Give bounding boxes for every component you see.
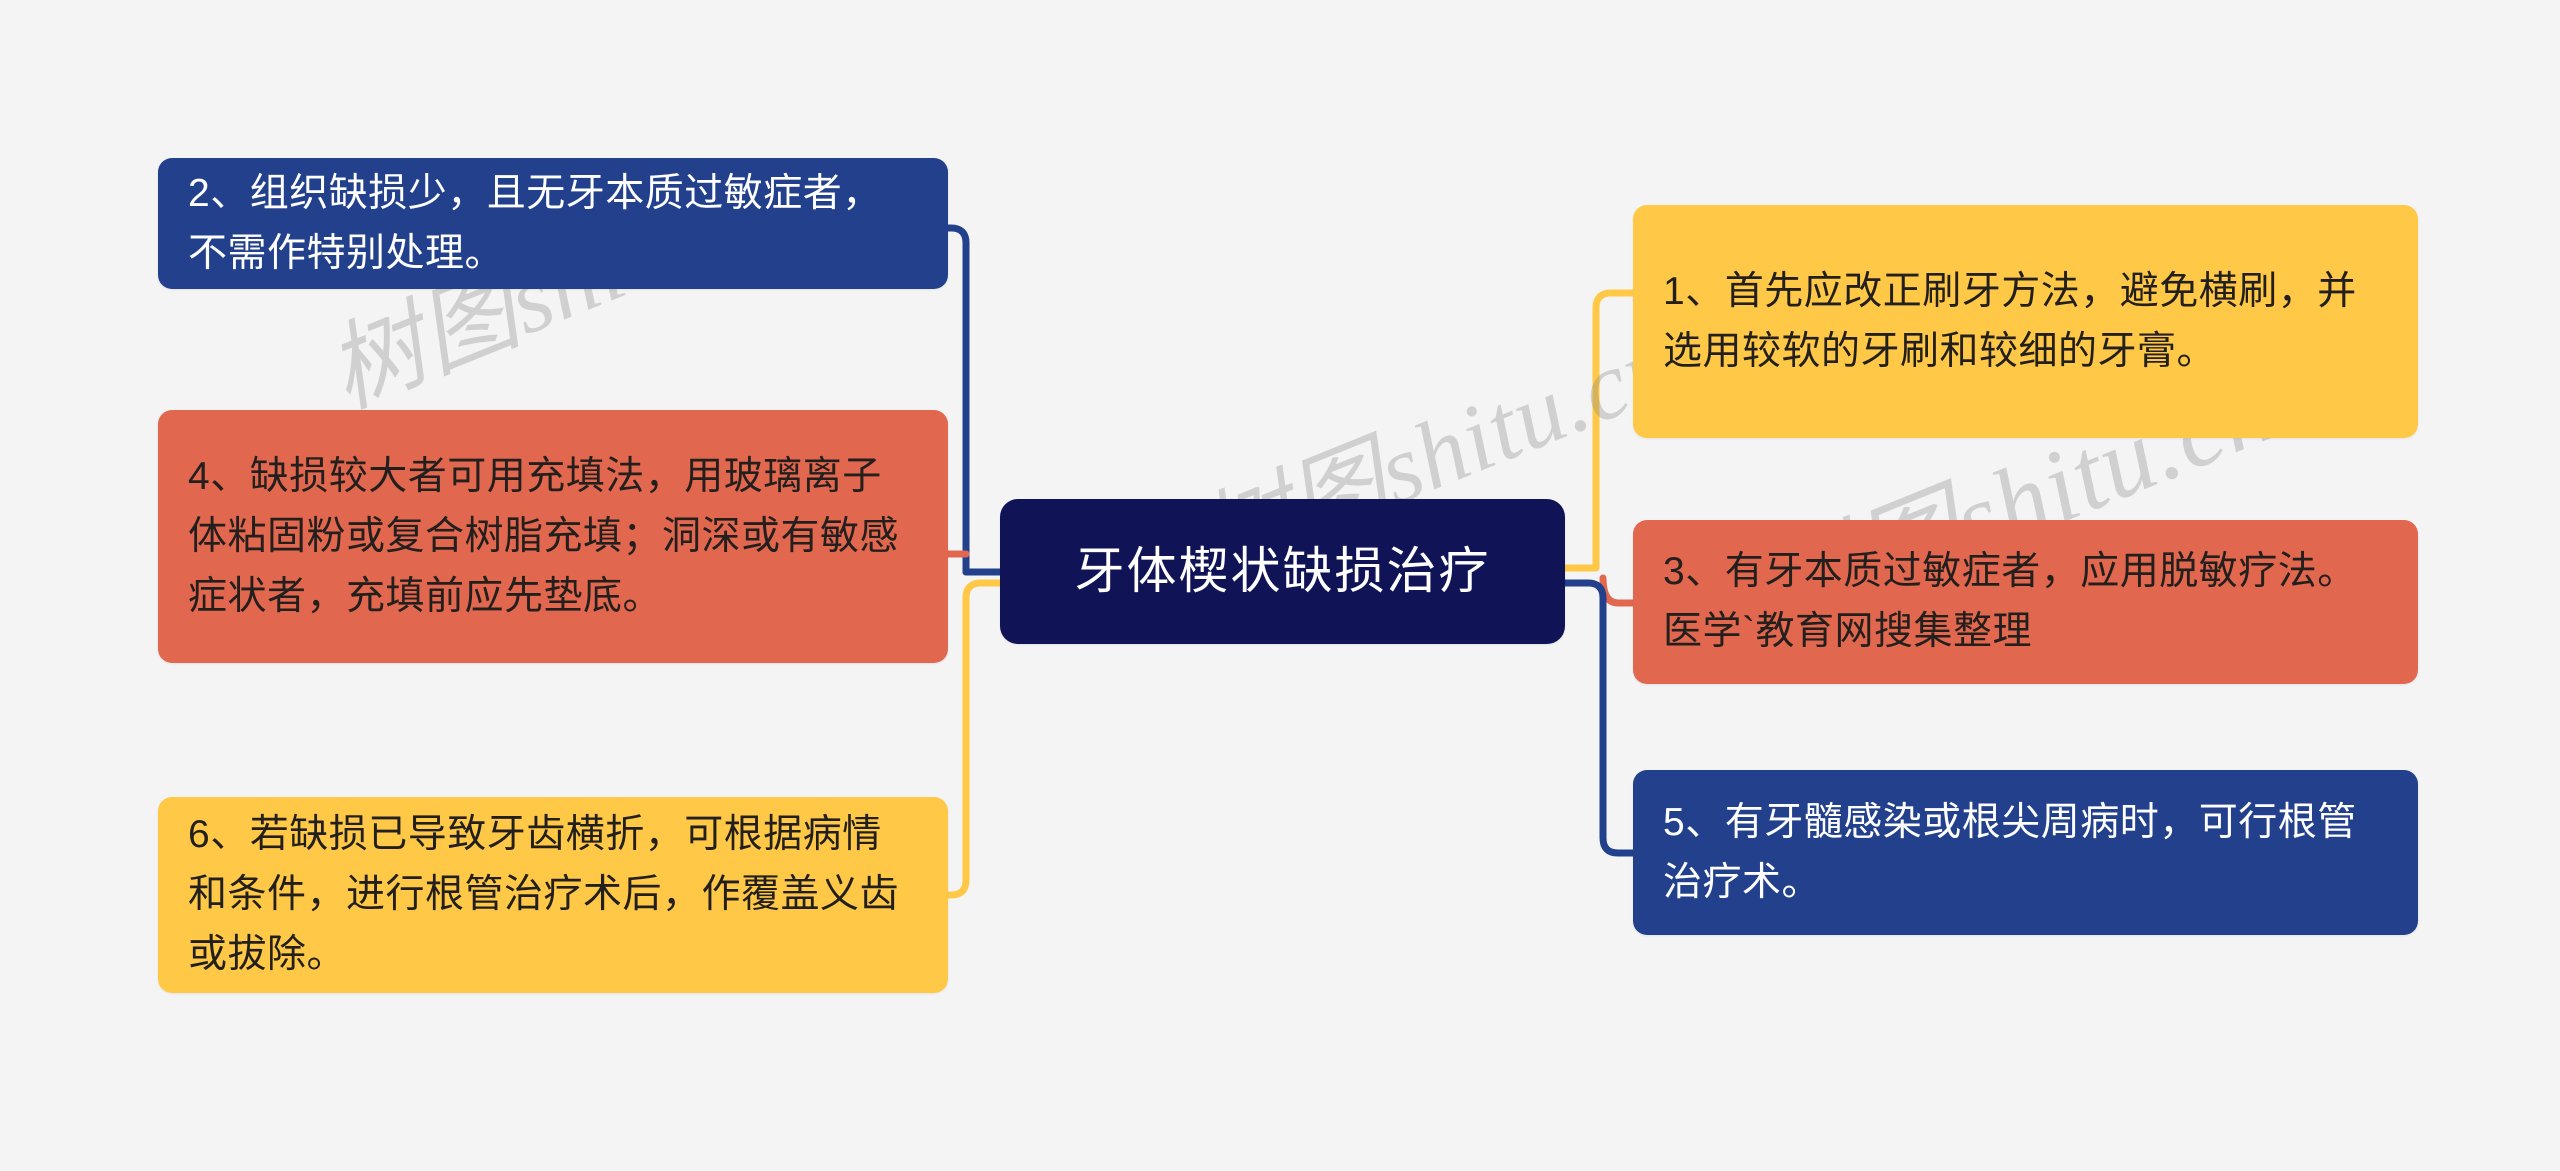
edge-root-to-node-6: [948, 583, 1000, 895]
root-node[interactable]: 牙体楔状缺损治疗: [1000, 499, 1565, 644]
branch-node-3-label: 3、有牙本质过敏症者，应用脱敏疗法。医学`教育网搜集整理: [1663, 542, 2388, 662]
edge-root-to-node-5: [1565, 583, 1633, 853]
branch-node-5-label: 5、有牙髓感染或根尖周病时，可行根管治疗术。: [1663, 793, 2388, 913]
edge-root-to-node-1: [1565, 293, 1633, 568]
branch-node-4-label: 4、缺损较大者可用充填法，用玻璃离子体粘固粉或复合树脂充填；洞深或有敏感症状者，…: [188, 447, 918, 627]
branch-node-3[interactable]: 3、有牙本质过敏症者，应用脱敏疗法。医学`教育网搜集整理: [1633, 520, 2418, 684]
edge-root-to-node-3: [1603, 578, 1633, 603]
branch-node-1-label: 1、首先应改正刷牙方法，避免横刷，并选用较软的牙刷和较细的牙膏。: [1663, 262, 2388, 382]
edge-root-to-node-2: [948, 228, 966, 572]
branch-node-2[interactable]: 2、组织缺损少，且无牙本质过敏症者，不需作特别处理。: [158, 158, 948, 289]
mindmap-canvas: 树图shitu.cn 树图shitu.cn 树图shitu.cn 2、组织缺损少…: [0, 0, 2560, 1171]
branch-node-6-label: 6、若缺损已导致牙齿横折，可根据病情和条件，进行根管治疗术后，作覆盖义齿或拔除。: [188, 805, 918, 985]
branch-node-6[interactable]: 6、若缺损已导致牙齿横折，可根据病情和条件，进行根管治疗术后，作覆盖义齿或拔除。: [158, 797, 948, 993]
root-node-label: 牙体楔状缺损治疗: [1000, 499, 1565, 644]
branch-node-1[interactable]: 1、首先应改正刷牙方法，避免横刷，并选用较软的牙刷和较细的牙膏。: [1633, 205, 2418, 438]
branch-node-4[interactable]: 4、缺损较大者可用充填法，用玻璃离子体粘固粉或复合树脂充填；洞深或有敏感症状者，…: [158, 410, 948, 663]
branch-node-2-label: 2、组织缺损少，且无牙本质过敏症者，不需作特别处理。: [188, 164, 918, 284]
branch-node-5[interactable]: 5、有牙髓感染或根尖周病时，可行根管治疗术。: [1633, 770, 2418, 935]
